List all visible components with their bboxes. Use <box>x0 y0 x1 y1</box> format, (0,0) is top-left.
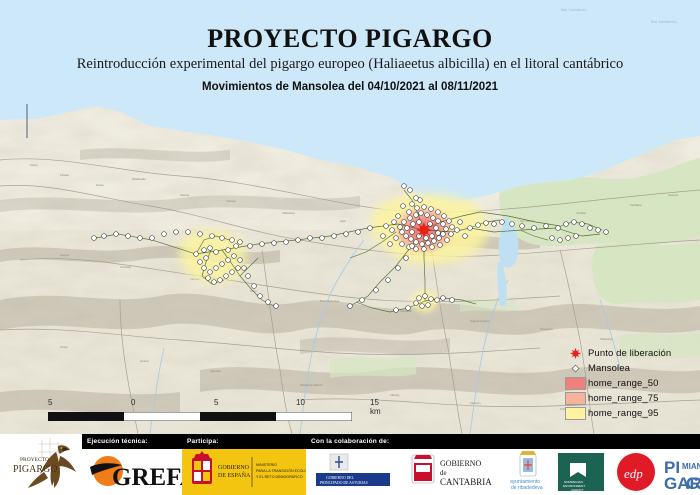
svg-text:Cabezón: Cabezón <box>470 401 481 405</box>
map-legend: Punto de liberación Mansolea home_range_… <box>562 346 671 421</box>
bar-label-ejecucion: Ejecución técnica: <box>87 438 148 445</box>
svg-text:Cangas: Cangas <box>60 253 70 257</box>
movement-period-label: Movimientos de Mansolea del 04/10/2021 a… <box>0 81 700 93</box>
legend-label-home-range-75: home_range_75 <box>588 393 659 404</box>
bar-label-participa: Participa: <box>187 438 219 445</box>
home-range-50-swatch <box>562 377 588 390</box>
svg-text:Santillana: Santillana <box>630 203 642 207</box>
svg-text:Sajambre: Sajambre <box>210 369 222 373</box>
svg-text:Ribadesella: Ribadesella <box>132 177 146 181</box>
home-range-75-swatch <box>562 392 588 405</box>
diamond-point-icon <box>562 363 588 374</box>
svg-text:Picos de Europa: Picos de Europa <box>320 299 340 303</box>
pigargo-mian-logo: PI MIAN GAR GO <box>664 453 700 493</box>
svg-text:GO: GO <box>686 474 700 493</box>
svg-text:PIGARGO: PIGARGO <box>13 464 57 475</box>
gobierno-espana-line2: DE ESPAÑA <box>218 471 251 479</box>
svg-text:Polaciones: Polaciones <box>600 337 613 341</box>
svg-text:Nueva: Nueva <box>96 183 104 187</box>
legend-label-home-range-95: home_range_95 <box>588 408 659 419</box>
poster-footer: PROYECTO PIGARGO Ejecución técnica: Part… <box>0 434 700 495</box>
svg-text:Amieva: Amieva <box>140 359 149 363</box>
svg-text:Vega de Liébana: Vega de Liébana <box>470 319 490 323</box>
bar-colaboracion: Con la colaboración de: <box>306 434 700 449</box>
svg-text:Cillorigo: Cillorigo <box>390 393 400 397</box>
svg-text:Caravia: Caravia <box>180 193 189 197</box>
colaboracion-logo-panel: GOBIERNO DEL PRINCIPADO DE ASTURIAS GOBI… <box>306 449 700 495</box>
legend-item-home-range-95[interactable]: home_range_95 <box>562 406 671 421</box>
poster: LlanesPosada NuevaRibadesella CaraviaCol… <box>0 0 700 495</box>
legend-item-mansolea[interactable]: Mansolea <box>562 361 671 376</box>
svg-text:PROYECTO: PROYECTO <box>20 457 49 463</box>
sea-label-1: Mar Cantábrico <box>556 8 592 12</box>
svg-text:Y EL RETO DEMOGRÁFICO: Y EL RETO DEMOGRÁFICO <box>256 475 303 479</box>
legend-label-home-range-50: home_range_50 <box>588 378 659 389</box>
svg-text:Colunga: Colunga <box>226 199 236 203</box>
legend-label-mansolea: Mansolea <box>588 363 630 374</box>
svg-text:Gijón: Gijón <box>340 219 347 223</box>
norwegian-environment-agency-logo: NORWEGIAN ENVIRONMENT AGENCY <box>558 453 604 492</box>
legend-item-release-point[interactable]: Punto de liberación <box>562 346 671 361</box>
svg-text:de: de <box>440 469 447 477</box>
poster-header: PROYECTO PIGARGO Reintroducción experime… <box>0 0 700 104</box>
svg-text:de ribadedeva: de ribadedeva <box>511 485 543 491</box>
svg-text:CANTABRIA: CANTABRIA <box>440 477 492 487</box>
svg-text:PRINCIPADO DE ASTURIAS: PRINCIPADO DE ASTURIAS <box>320 481 368 485</box>
svg-text:edp: edp <box>624 466 643 481</box>
page-title: PROYECTO PIGARGO <box>0 24 700 54</box>
participa-logo-panel: GOBIERNO DE ESPAÑA MINISTERIO PARA LA TR… <box>182 449 306 495</box>
legend-item-home-range-75[interactable]: home_range_75 <box>562 391 671 406</box>
svg-text:Potes: Potes <box>250 289 257 293</box>
svg-text:Pesaguero: Pesaguero <box>540 327 553 331</box>
proyecto-pigargo-logo[interactable]: PROYECTO PIGARGO <box>0 434 82 495</box>
page-subtitle: Reintroducción experimental del pigargo … <box>0 56 700 73</box>
svg-text:Arriondas: Arriondas <box>120 265 132 269</box>
svg-text:GOBIERNO DEL: GOBIERNO DEL <box>326 476 355 480</box>
svg-text:MIAN: MIAN <box>682 462 700 471</box>
sea-label-2: Mar Cantábrico <box>646 20 682 24</box>
svg-text:Posada de Valdeón: Posada de Valdeón <box>300 383 323 387</box>
svg-text:PARA LA TRANSICIÓN ECOLÓGICA: PARA LA TRANSICIÓN ECOLÓGICA <box>256 468 306 473</box>
bar-ejecucion-tecnica: Ejecución técnica: <box>82 434 187 449</box>
bar-participa: Participa: <box>182 434 311 449</box>
svg-text:Villaviciosa: Villaviciosa <box>282 211 295 215</box>
svg-text:Posada: Posada <box>60 173 69 177</box>
grefa-wordmark: GREFA <box>112 464 182 491</box>
grefa-logo-panel[interactable]: GREFA <box>82 449 182 495</box>
release-star-icon <box>562 347 588 360</box>
legend-item-home-range-50[interactable]: home_range_50 <box>562 376 671 391</box>
edp-logo: edp <box>617 453 655 491</box>
scale-tick-labels: 5 0 5 10 15 km <box>48 398 348 410</box>
svg-text:Llanes: Llanes <box>30 163 38 167</box>
svg-text:GOBIERNO: GOBIERNO <box>440 459 482 468</box>
svg-text:Comillas: Comillas <box>576 211 587 215</box>
svg-text:AGENCY: AGENCY <box>571 488 584 492</box>
legend-label-release-point: Punto de liberación <box>588 348 671 359</box>
gobierno-espana-line1: GOBIERNO <box>218 465 250 471</box>
svg-text:Ponga: Ponga <box>60 345 68 349</box>
svg-text:Suances: Suances <box>668 193 679 197</box>
svg-text:MINISTERIO: MINISTERIO <box>256 463 277 467</box>
home-range-95-swatch <box>562 407 588 420</box>
bar-label-colaboracion: Con la colaboración de: <box>311 438 389 445</box>
